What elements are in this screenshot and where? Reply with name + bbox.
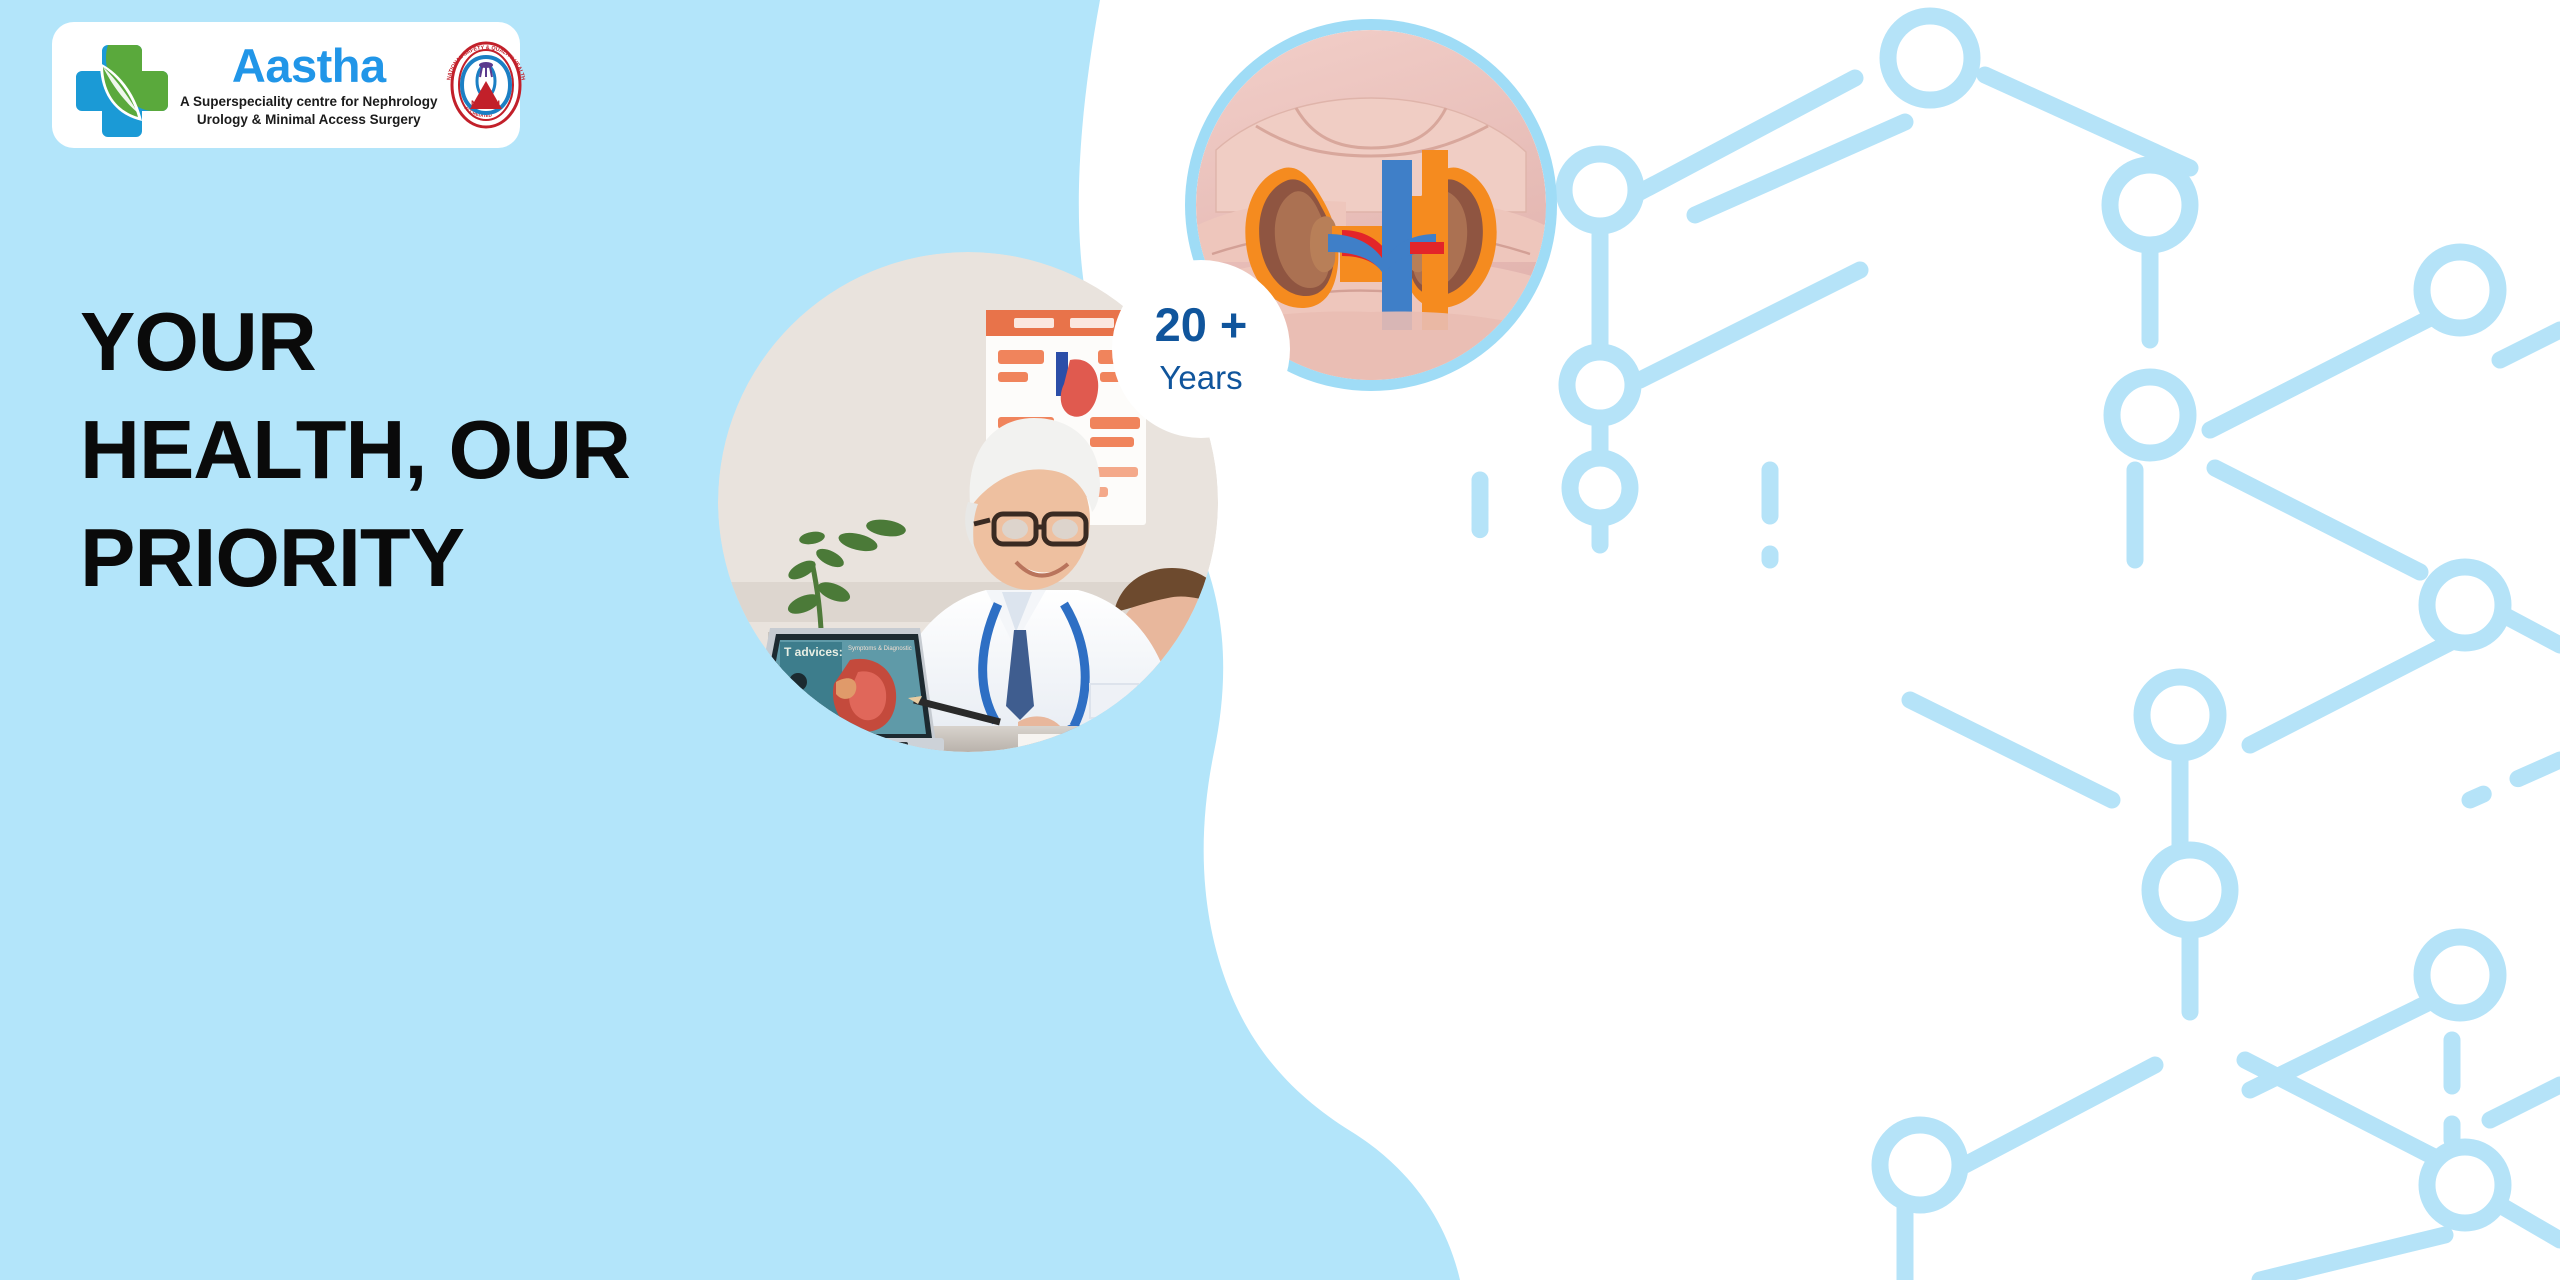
brand-text-block: Aastha A Superspeciality centre for Neph…	[174, 42, 438, 129]
brand-tagline-line-1: A Superspeciality centre for Nephrology	[180, 93, 438, 111]
brand-logo-card[interactable]: Aastha A Superspeciality centre for Neph…	[52, 22, 520, 148]
badge-unit: Years	[1159, 360, 1242, 396]
headline-line-3: PRIORITY	[80, 504, 700, 612]
laptop-screen-title: T advices:	[784, 645, 843, 659]
medical-cross-leaf-logo-icon	[70, 33, 174, 137]
nabh-accreditation-seal-icon: NATIONAL SAFETY & QUALITY HEALTH ACCREDI…	[438, 37, 534, 133]
brand-tagline-line-2: Urology & Minimal Access Surgery	[197, 111, 421, 129]
banner-root: T advices: Symptoms & Diagnostic	[0, 0, 2560, 1280]
badge-count: 20 +	[1155, 301, 1248, 348]
laptop-screen-subtitle: Symptoms & Diagnostic	[848, 646, 912, 652]
headline-line-2: HEALTH, OUR	[80, 396, 700, 504]
page-title: YOUR HEALTH, OUR PRIORITY	[80, 288, 700, 612]
brand-name: Aastha	[232, 42, 386, 89]
nabh-label: NABH	[471, 99, 501, 109]
headline-line-1: YOUR	[80, 288, 700, 396]
experience-years-badge: 20 + Years	[1112, 260, 1290, 438]
